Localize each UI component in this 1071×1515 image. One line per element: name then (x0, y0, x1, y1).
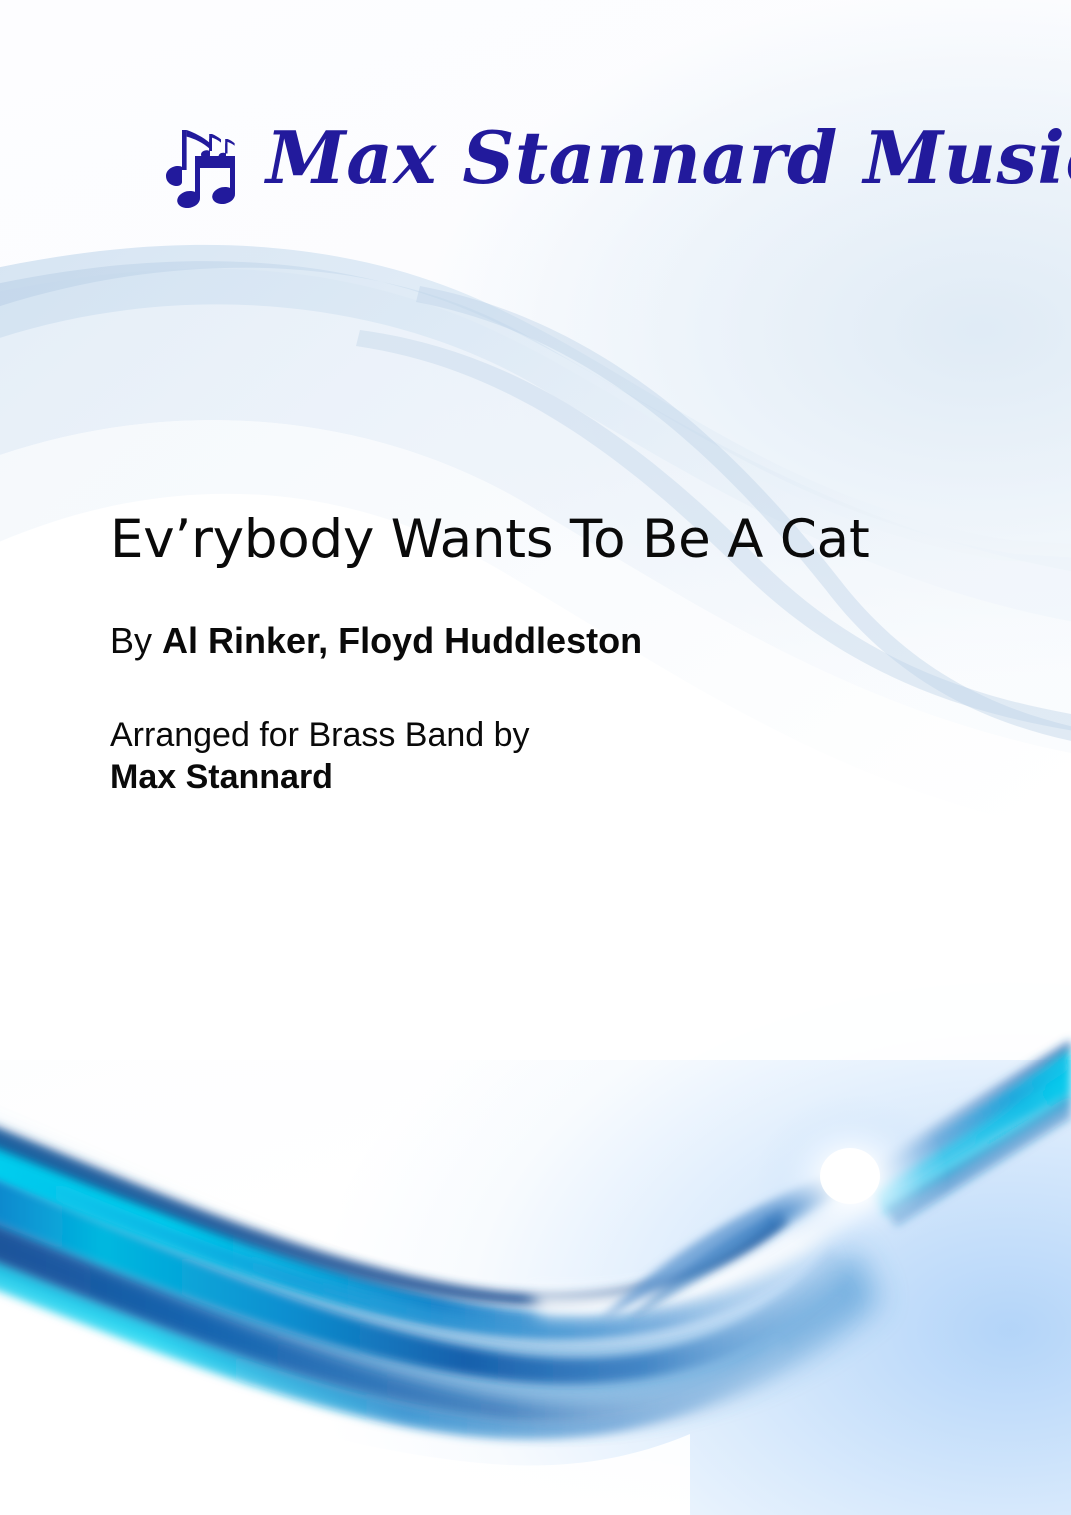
composer-credit: By Al Rinker, Floyd Huddleston (110, 621, 1010, 661)
composer-names: Al Rinker, Floyd Huddleston (162, 620, 642, 661)
glow-highlight (756, 1094, 948, 1262)
score-cover-page: Max Stannard Music Ev’rybody Wants To Be… (0, 0, 1071, 1515)
publisher-logo: Max Stannard Music (160, 104, 1071, 212)
title-block: Ev’rybody Wants To Be A Cat By Al Rinker… (110, 512, 1010, 798)
composer-prefix: By (110, 620, 162, 661)
publisher-name: Max Stannard Music (266, 122, 1071, 194)
arranger-credit: Arranged for Brass Band by Max Stannard (110, 715, 1010, 798)
page-title: Ev’rybody Wants To Be A Cat (110, 512, 1010, 568)
arranger-name: Max Stannard (110, 757, 1010, 798)
music-notes-icon (160, 108, 256, 208)
arrangement-line: Arranged for Brass Band by (110, 715, 1010, 756)
